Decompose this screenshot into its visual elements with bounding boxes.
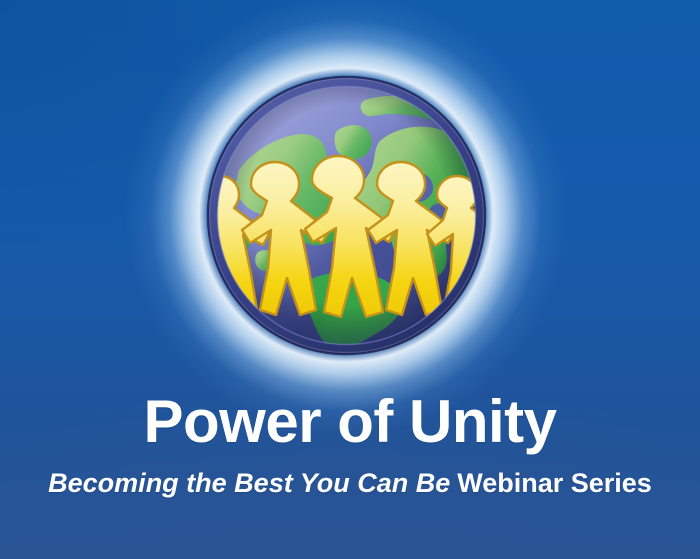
slide-canvas: Power of Unity Becoming the Best You Can… <box>0 0 700 559</box>
page-subtitle: Becoming the Best You Can BeWebinar Seri… <box>0 469 700 497</box>
subtitle-tail: Webinar Series <box>457 468 652 498</box>
globe-unity-icon <box>205 74 488 357</box>
subtitle-emphasis: Becoming the Best You Can Be <box>48 468 450 498</box>
title-block: Power of Unity Becoming the Best You Can… <box>0 392 700 524</box>
page-title: Power of Unity <box>0 392 700 452</box>
